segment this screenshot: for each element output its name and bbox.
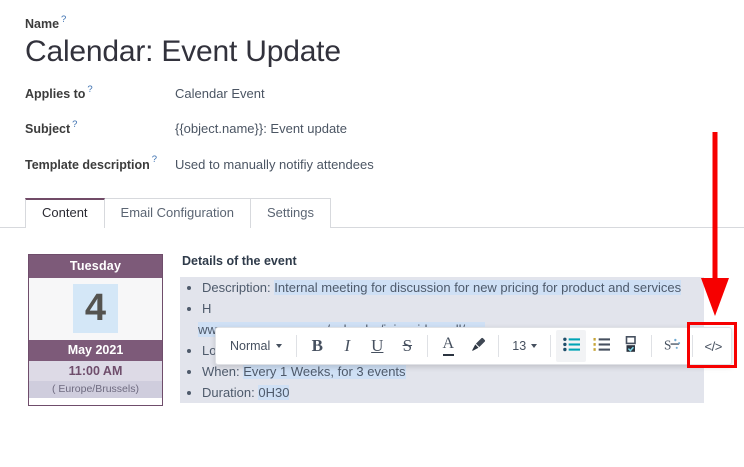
name-label: Name <box>25 17 59 31</box>
event-details-heading: Details of the event <box>182 254 704 268</box>
paragraph-style-label: Normal <box>230 339 270 353</box>
item-value: Internal meeting for discussion for new … <box>274 280 681 295</box>
list-item[interactable]: H <box>202 298 704 319</box>
toolbar-divider <box>427 335 428 357</box>
help-icon-subject[interactable]: ? <box>72 119 77 130</box>
chevron-down-icon <box>531 344 537 348</box>
calendar-time: 11:00 AM <box>29 361 162 381</box>
clear-format-icon: S <box>664 337 681 356</box>
paragraph-style-dropdown[interactable]: Normal <box>219 339 291 353</box>
font-color-icon: A <box>443 336 455 356</box>
clear-format-button[interactable]: S <box>657 330 687 362</box>
brush-icon <box>470 336 487 356</box>
strikethrough-button[interactable]: S <box>392 330 422 362</box>
font-size-dropdown[interactable]: 13 <box>504 339 545 353</box>
item-value: 0H30 <box>258 385 289 400</box>
checklist-button[interactable] <box>616 330 646 362</box>
form-header: Name? Calendar: Event Update Applies to?… <box>0 0 744 174</box>
svg-text:S: S <box>664 337 671 352</box>
calendar-day-number: 4 <box>73 284 118 333</box>
toolbar-divider <box>651 335 652 357</box>
subject-value[interactable]: {{object.name}}: Event update <box>175 121 347 136</box>
tab-bar: Content Email Configuration Settings <box>0 196 744 228</box>
applies-to-label-cell: Applies to? <box>25 84 175 103</box>
toolbar-divider <box>296 335 297 357</box>
underline-icon: U <box>371 336 383 356</box>
template-description-label-cell: Template description? <box>25 154 175 173</box>
ordered-list-button[interactable] <box>586 330 616 362</box>
page-title[interactable]: Calendar: Event Update <box>25 36 744 68</box>
font-size-label: 13 <box>512 339 526 353</box>
highlight-color-button[interactable] <box>463 330 493 362</box>
help-icon-template-description[interactable]: ? <box>152 154 157 165</box>
ordered-list-icon <box>593 337 610 355</box>
font-color-button[interactable]: A <box>433 330 463 362</box>
tab-panel-content: Tuesday 4 May 2021 11:00 AM ( Europe/Bru… <box>0 228 744 406</box>
calendar-date-card: Tuesday 4 May 2021 11:00 AM ( Europe/Bru… <box>28 254 163 406</box>
annotation-arrow <box>695 130 735 320</box>
item-key: Description: <box>202 280 271 295</box>
tab-email-configuration[interactable]: Email Configuration <box>104 198 251 228</box>
template-description-label: Template description <box>25 158 150 172</box>
subject-label-cell: Subject? <box>25 119 175 138</box>
tab-content[interactable]: Content <box>25 198 105 228</box>
subject-label: Subject <box>25 122 70 136</box>
applies-to-value[interactable]: Calendar Event <box>175 86 265 101</box>
field-row-applies-to: Applies to? Calendar Event <box>25 84 744 103</box>
field-row-template-description: Template description? Used to manually n… <box>25 154 744 173</box>
calendar-day-of-week: Tuesday <box>29 255 162 278</box>
bold-icon: B <box>312 336 323 356</box>
help-icon-applies-to[interactable]: ? <box>87 84 92 95</box>
item-key: H <box>202 301 211 316</box>
italic-icon: I <box>344 336 350 356</box>
checklist-icon <box>624 336 639 356</box>
list-item[interactable]: Duration: 0H30 <box>202 382 704 403</box>
tab-list: Content Email Configuration Settings <box>0 196 744 228</box>
toolbar-divider <box>498 335 499 357</box>
editor-toolbar[interactable]: Normal B I U S A 13 <box>215 327 732 365</box>
calendar-timezone: ( Europe/Brussels) <box>29 381 162 398</box>
name-field-group: Name? Calendar: Event Update <box>25 14 744 68</box>
applies-to-label: Applies to <box>25 87 85 101</box>
calendar-month-year: May 2021 <box>29 340 162 361</box>
help-icon-name[interactable]: ? <box>61 14 66 25</box>
list-item[interactable]: Description: Internal meeting for discus… <box>202 277 704 298</box>
page-root: Name? Calendar: Event Update Applies to?… <box>0 0 744 467</box>
item-value: Every 1 Weeks, for 3 events <box>243 364 405 379</box>
item-key: Duration: <box>202 385 255 400</box>
unordered-list-icon <box>563 337 580 355</box>
chevron-down-icon <box>276 344 282 348</box>
field-row-subject: Subject? {{object.name}}: Event update <box>25 119 744 138</box>
tab-settings[interactable]: Settings <box>250 198 331 228</box>
item-key: When: <box>202 364 240 379</box>
calendar-day-box: 4 <box>29 278 162 340</box>
template-description-value[interactable]: Used to manually notifiy attendees <box>175 157 374 172</box>
annotation-highlight-box <box>687 322 737 368</box>
bold-button[interactable]: B <box>302 330 332 362</box>
unordered-list-button[interactable] <box>556 330 586 362</box>
underline-button[interactable]: U <box>362 330 392 362</box>
strikethrough-icon: S <box>403 336 412 356</box>
toolbar-divider <box>550 335 551 357</box>
italic-button[interactable]: I <box>332 330 362 362</box>
